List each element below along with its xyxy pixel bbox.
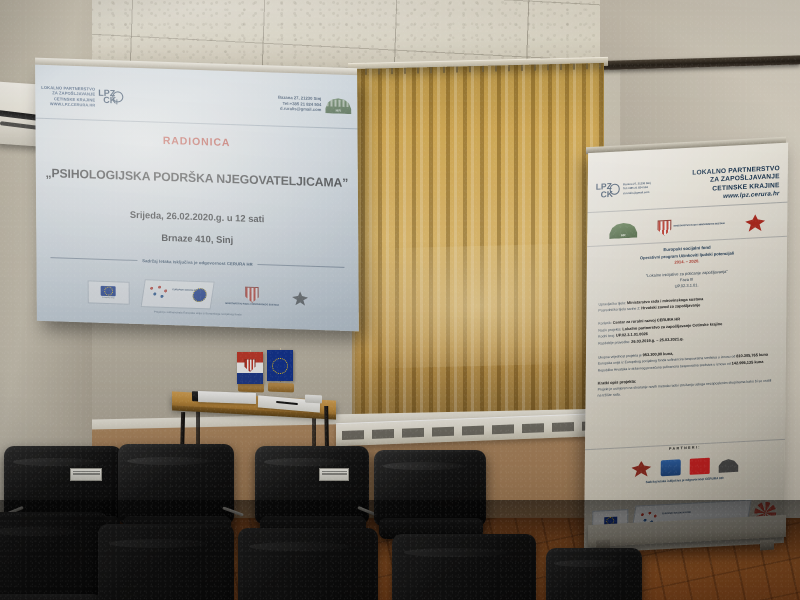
slide-disclaimer-row: Sadržaj letaka isključiva je odgovornost… bbox=[36, 255, 358, 271]
partner-logo-icon bbox=[292, 291, 308, 306]
rollup-project-rows: Korisnik: Centar za ruralni razvoj CERUR… bbox=[598, 311, 774, 347]
rollup-finance-amount-1: 810.305,765 kuna bbox=[736, 352, 768, 359]
chair-backrest bbox=[374, 450, 486, 526]
chair-backrest bbox=[118, 444, 234, 524]
rollup-fund-block: Europski socijalni fond Operativni progr… bbox=[599, 241, 775, 294]
rollup-esf-caption: EUROPSKI SOCIJALNI FOND bbox=[662, 512, 692, 517]
rollup-contact-email: d.ruralis@gmail.com bbox=[623, 190, 651, 196]
rollup-project-label-3: Razdoblje provedbe: bbox=[598, 340, 630, 346]
projection-screen: LOKALNO PARTNERSTVO ZA ZAPOŠLJAVANJE CET… bbox=[35, 65, 359, 332]
window-daylight-glow bbox=[352, 243, 604, 369]
rollup-finance-amount-2: 142.995,135 kuna bbox=[732, 359, 764, 366]
rollup-cerura-hr-label: HR bbox=[621, 233, 626, 237]
rollup-authority-rows: Upravljačko tijelo: Ministarstvo rada i … bbox=[598, 292, 774, 315]
rollup-partner-logo-icon bbox=[745, 214, 765, 232]
slide-org-block: LOKALNO PARTNERSTVO ZA ZAPOŠLJAVANJE CET… bbox=[41, 85, 123, 109]
chair-backrest bbox=[0, 512, 108, 600]
rollup-lpz-logo-icon: LPZ CK bbox=[596, 183, 620, 199]
chair-backrest bbox=[238, 528, 378, 600]
rollup-finance-rows: Ukupna vrijednost projekta je 953.300,90… bbox=[598, 345, 774, 374]
cerura-hr-logo-icon: HR bbox=[325, 96, 351, 114]
rollup-body: Europski socijalni fond Operativni progr… bbox=[586, 241, 788, 400]
slide-disclaimer-text: Sadržaj letaka isključiva je odgovornost… bbox=[142, 258, 253, 267]
croatian-coat-of-arms-icon bbox=[245, 287, 259, 303]
projected-slide: LOKALNO PARTNERSTVO ZA ZAPOŠLJAVANJE CET… bbox=[35, 65, 359, 332]
chair-backrest bbox=[546, 548, 642, 600]
partner-logo-d-icon bbox=[718, 456, 738, 473]
handheld-device[interactable] bbox=[305, 395, 322, 404]
chair-label bbox=[319, 468, 349, 481]
slide-contact-block: Bazana 27, 21230 Sinj Tel:+385 21 824 50… bbox=[278, 94, 351, 114]
rollup-finance-amount-0: 953.300,90 kuna, bbox=[643, 350, 674, 357]
papers-left[interactable] bbox=[198, 391, 256, 404]
slide-org-url: WWW.LPZ.CERURA.HR bbox=[41, 101, 95, 108]
rollup-authority-label-0: Upravljačko tijelo: bbox=[598, 301, 625, 306]
rollup-cerura-logo-icon: HR bbox=[609, 221, 637, 239]
rollup-header: LPZ CK Bazana 27, 21230 Sinj Tel:+385 21… bbox=[587, 161, 787, 214]
rollup-project-label-0: Korisnik: bbox=[598, 321, 611, 326]
esf-dots-icon bbox=[147, 285, 171, 300]
rollup-foot-right bbox=[760, 540, 774, 551]
partner-logo-b-icon bbox=[660, 459, 680, 476]
rollup-banner: LPZ CK Bazana 27, 21230 Sinj Tel:+385 21… bbox=[584, 143, 788, 554]
flag-stand-eu bbox=[268, 383, 294, 393]
rollup-project-value-2: UP.02.3.1.01.0026 bbox=[616, 331, 648, 338]
chair-backrest bbox=[392, 534, 536, 600]
cerura-hr-label: HR bbox=[336, 109, 342, 113]
slide-rule-left bbox=[50, 257, 137, 261]
slide-contact-text: Bazana 27, 21230 Sinj Tel:+385 21 824 50… bbox=[278, 94, 321, 113]
rollup-title: LOKALNO PARTNERSTVO ZA ZAPOŠLJAVANJE CET… bbox=[692, 165, 780, 203]
slide-datetime: Srijeda, 26.02.2020.g. u 12 sati bbox=[36, 206, 358, 228]
slide-headline: „PSIHOLOGIJSKA PODRŠKA NJEGOVATELJICAMA” bbox=[36, 166, 358, 191]
croatian-flag-icon bbox=[237, 352, 263, 384]
rollup-partners-label: PARTNERI: bbox=[669, 445, 701, 451]
slide-rule-right bbox=[258, 264, 345, 268]
esf-euro-stars-icon bbox=[191, 288, 207, 302]
esf-logo-icon: EUROPSKI SOCIJALNI FOND bbox=[140, 279, 214, 309]
vertical-blinds[interactable] bbox=[352, 63, 604, 429]
slide-kicker: RADIONICA bbox=[36, 131, 358, 154]
rollup-brand-block: LPZ CK Bazana 27, 21230 Sinj Tel:+385 21… bbox=[596, 181, 651, 198]
chair-label bbox=[70, 468, 102, 481]
ministry-logo-icon: MINISTARSTVO RADA I MIROVINSKOG SUSTAVA bbox=[225, 286, 279, 308]
flag-stand-croatia bbox=[238, 383, 264, 393]
chair-label-line bbox=[73, 471, 100, 473]
radiator-vent-slots bbox=[342, 421, 602, 440]
chair-label-line bbox=[322, 471, 347, 473]
lpz-logo-ring-icon bbox=[112, 91, 123, 102]
rollup-logo-row: HR MINISTARSTVO RADA I MIROVINSKOG SUSTA… bbox=[587, 207, 787, 248]
photo-scene: LOKALNO PARTNERSTVO ZA ZAPOŠLJAVANJE CET… bbox=[0, 0, 800, 600]
partner-logo-a-icon bbox=[631, 460, 651, 477]
slide-location: Brnaze 410, Sinj bbox=[36, 228, 358, 250]
slide-header: LOKALNO PARTNERSTVO ZA ZAPOŠLJAVANJE CET… bbox=[35, 73, 357, 130]
rollup-ministry-caption: MINISTARSTVO RADA I MIROVINSKOG SUSTAVA bbox=[674, 223, 725, 229]
eu-stars-icon bbox=[101, 285, 116, 296]
cerura-stripes-icon bbox=[326, 99, 350, 107]
eu-caption: Europska unija bbox=[102, 296, 115, 298]
partner-logo-c-icon bbox=[689, 457, 709, 474]
chair-backrest bbox=[255, 446, 369, 524]
chair-backrest bbox=[98, 524, 234, 600]
rollup-ministry-logo-icon: MINISTARSTVO RADA I MIROVINSKOG SUSTAVA bbox=[657, 216, 725, 236]
chair-label-line bbox=[73, 473, 100, 475]
croatian-flag-crest-icon bbox=[245, 359, 256, 372]
chair-label-line bbox=[322, 473, 347, 475]
lpz-logo-icon: LPZ CK bbox=[98, 89, 123, 105]
eu-flag-icon bbox=[267, 350, 293, 381]
ministry-caption: MINISTARSTVO RADA I MIROVINSKOG SUSTAVA bbox=[225, 303, 279, 308]
eu-flag-logo-icon: Europska unija bbox=[87, 280, 129, 304]
slide-org-text: LOKALNO PARTNERSTVO ZA ZAPOŠLJAVANJE CET… bbox=[41, 85, 95, 108]
rollup-project-label-2: Kodni broj: bbox=[598, 334, 615, 339]
rollup-authority-label-1: Posredničko tijelo razine 2: bbox=[598, 307, 640, 313]
slide-contact-email: d.ruralis@gmail.com bbox=[278, 106, 321, 113]
chair-seat bbox=[0, 594, 100, 600]
rollup-project-label-1: Naziv projekta: bbox=[598, 327, 621, 332]
rollup-lpz-ring-icon bbox=[609, 184, 620, 195]
rollup-coat-of-arms-icon bbox=[657, 219, 671, 236]
rollup-contact: Bazana 27, 21230 Sinj Tel:+385 21 824 50… bbox=[623, 182, 651, 196]
